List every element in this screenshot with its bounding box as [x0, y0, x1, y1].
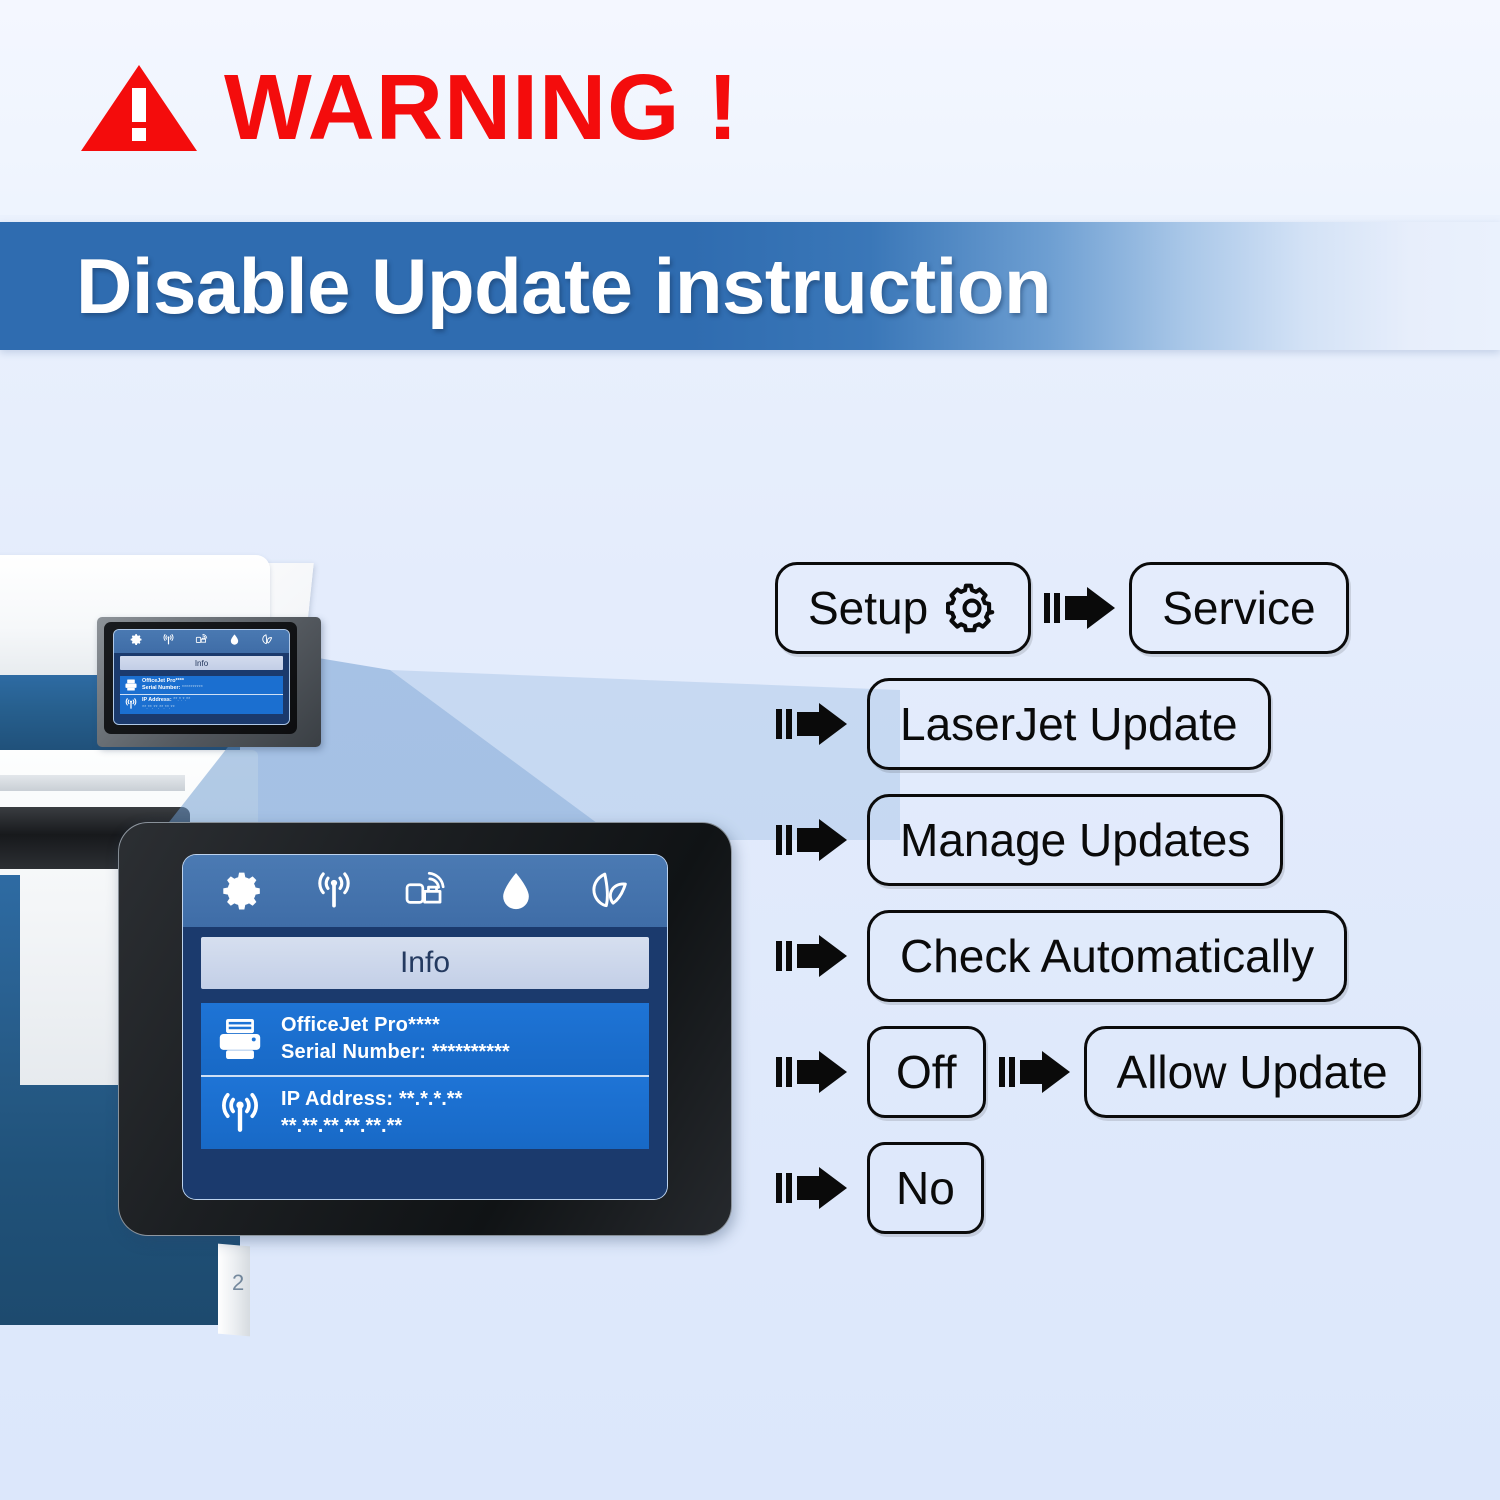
list-item[interactable]: IP Address: **.*.*.** **.**.**.**.**.** — [120, 694, 283, 714]
tab-info-large[interactable]: Info — [201, 937, 649, 989]
arrow-right-icon — [998, 1045, 1072, 1099]
ink-drop-icon[interactable] — [228, 633, 241, 651]
list-item[interactable]: OfficeJet Pro**** Serial Number: *******… — [120, 676, 283, 694]
gear-icon[interactable] — [130, 633, 143, 651]
mobile-print-icon[interactable] — [195, 633, 208, 651]
printer-control-panel-large[interactable]: Info OfficeJet Pro**** Serial Number: **… — [118, 822, 732, 1236]
step-button-check-automatically[interactable]: Check Automatically — [867, 910, 1347, 1002]
table-row[interactable]: OfficeJet Pro**** Serial Number: *******… — [201, 1003, 649, 1075]
step-button-setup[interactable]: Setup — [775, 562, 1031, 654]
step-row-2: LaserJet Update — [775, 676, 1475, 772]
panel-tab-area-small: Info — [114, 653, 289, 673]
step-label: Allow Update — [1117, 1045, 1388, 1099]
warning-text: WARNING ! — [224, 61, 739, 154]
warning-triangle-icon — [78, 62, 200, 154]
step-button-laserjet-update[interactable]: LaserJet Update — [867, 678, 1271, 770]
gear-icon — [946, 582, 998, 634]
step-row-6: No — [775, 1140, 1475, 1236]
wifi-icon[interactable] — [162, 633, 175, 651]
table-row[interactable]: IP Address: **.*.*.** **.**.**.**.**.** — [201, 1075, 649, 1149]
page-title-banner: Disable Update instruction — [0, 222, 1500, 350]
step-label: Manage Updates — [900, 813, 1250, 867]
step-button-manage-updates[interactable]: Manage Updates — [867, 794, 1283, 886]
eco-leaf-icon[interactable] — [260, 633, 273, 651]
gear-icon[interactable] — [221, 869, 265, 913]
warning-header: WARNING ! — [0, 0, 1500, 215]
step-label: No — [896, 1161, 955, 1215]
instruction-steps: Setup Service LaserJet Update — [775, 560, 1475, 1256]
printer-icon — [124, 678, 138, 692]
step-row-3: Manage Updates — [775, 792, 1475, 888]
panel-screen-small[interactable]: Info OfficeJet Pro**** Serial Number: **… — [113, 629, 290, 725]
step-button-off[interactable]: Off — [867, 1026, 986, 1118]
printer-output-lip — [0, 775, 185, 791]
panel-icon-bar-small — [114, 630, 289, 653]
page-title: Disable Update instruction — [76, 247, 1051, 325]
ink-drop-icon[interactable] — [494, 869, 538, 913]
arrow-right-icon — [775, 813, 849, 867]
arrow-right-icon — [775, 1161, 849, 1215]
panel-info-rows-small: OfficeJet Pro**** Serial Number: *******… — [114, 673, 289, 724]
step-button-no[interactable]: No — [867, 1142, 984, 1234]
list-item-text: OfficeJet Pro**** Serial Number: *******… — [142, 678, 203, 692]
arrow-right-icon — [775, 929, 849, 983]
step-button-allow-update[interactable]: Allow Update — [1084, 1026, 1421, 1118]
panel-tab-area-large: Info — [183, 927, 667, 1003]
printer-icon — [215, 1014, 265, 1064]
step-row-1: Setup Service — [775, 560, 1475, 656]
list-item-text: IP Address: **.*.*.** **.**.**.**.**.** — [142, 697, 190, 712]
mobile-print-icon[interactable] — [403, 869, 447, 913]
wifi-icon[interactable] — [312, 869, 356, 913]
wifi-icon — [124, 697, 138, 711]
printer-control-panel-small[interactable]: Info OfficeJet Pro**** Serial Number: **… — [97, 617, 321, 747]
tab-info-small[interactable]: Info — [120, 656, 283, 670]
step-label: Setup — [808, 581, 928, 635]
table-cell: OfficeJet Pro**** Serial Number: *******… — [281, 1012, 510, 1066]
panel-inner-small: Info OfficeJet Pro**** Serial Number: **… — [104, 622, 297, 734]
step-row-4: Check Automatically — [775, 908, 1475, 1004]
panel-icon-bar-large — [183, 855, 667, 927]
printer-side-panel — [0, 875, 20, 1115]
step-label: Off — [896, 1045, 957, 1099]
step-label: Check Automatically — [900, 929, 1314, 983]
step-button-service[interactable]: Service — [1129, 562, 1348, 654]
panel-screen-large[interactable]: Info OfficeJet Pro**** Serial Number: **… — [182, 854, 668, 1200]
table-cell: IP Address: **.*.*.** **.**.**.**.**.** — [281, 1086, 462, 1140]
arrow-right-icon — [775, 1045, 849, 1099]
step-label: LaserJet Update — [900, 697, 1238, 751]
step-label: Service — [1162, 581, 1315, 635]
arrow-right-icon — [1043, 581, 1117, 635]
eco-leaf-icon[interactable] — [585, 869, 629, 913]
arrow-right-icon — [775, 697, 849, 751]
wifi-icon — [215, 1088, 265, 1138]
step-row-5: Off Allow Update — [775, 1024, 1475, 1120]
printer-tray-number: 2 — [232, 1270, 244, 1296]
panel-info-rows-large: OfficeJet Pro**** Serial Number: *******… — [183, 1003, 667, 1199]
